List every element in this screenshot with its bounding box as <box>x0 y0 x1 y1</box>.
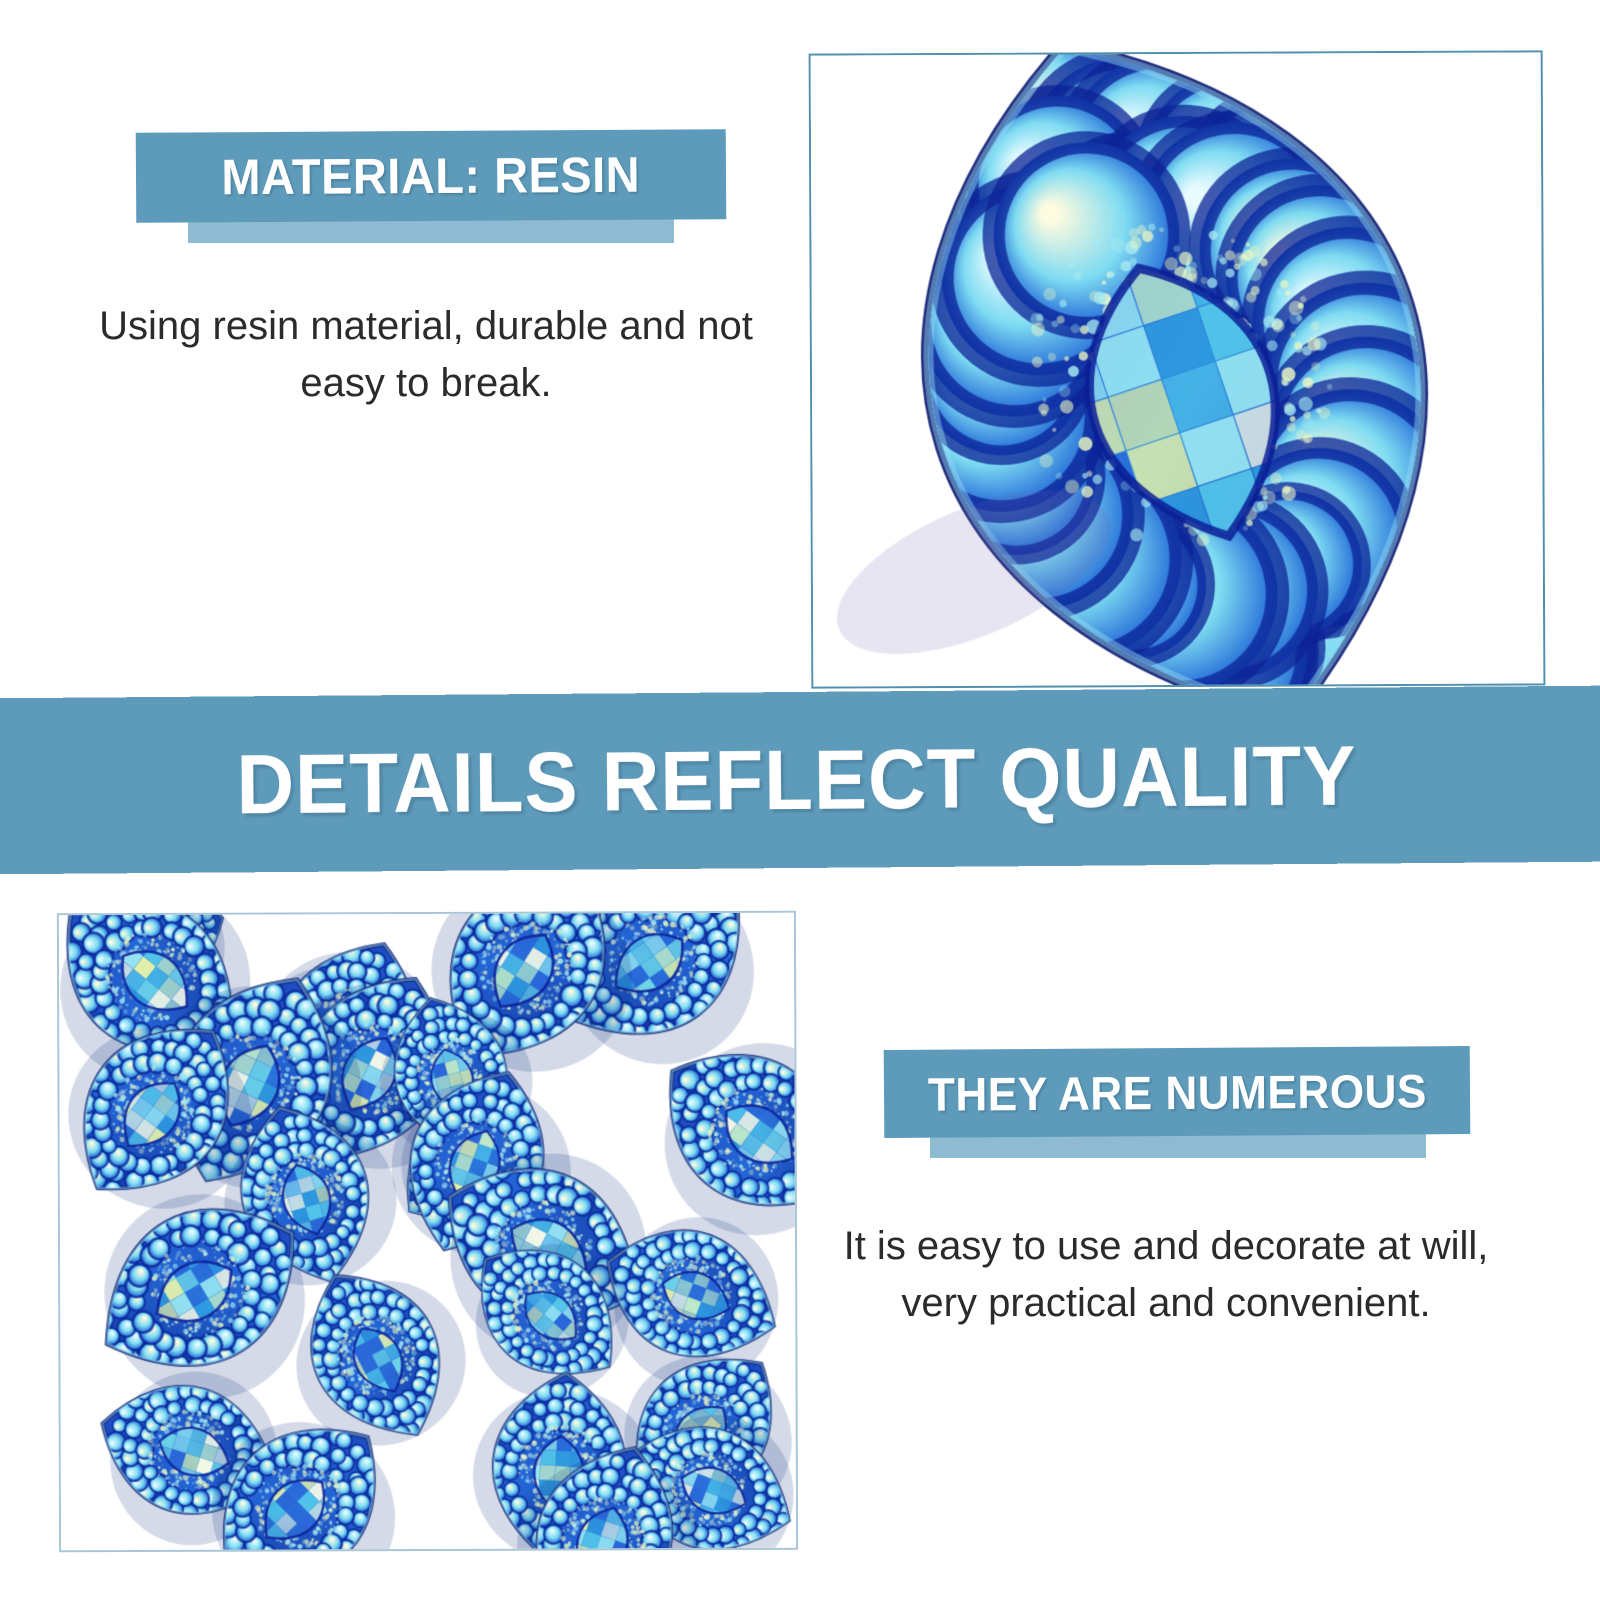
body-text-numerous: It is easy to use and decorate at will, … <box>836 1218 1496 1332</box>
ribbon-heading-material: MATERIAL: RESIN <box>136 131 736 247</box>
photo-rhinestone-pile <box>57 911 798 1553</box>
banner-title-label: DETAILS REFLECT QUALITY <box>236 727 1357 833</box>
photo-single-rhinestone <box>809 50 1546 688</box>
heading-material-label: MATERIAL: RESIN <box>221 146 640 207</box>
photo-single-rhinestone-image <box>811 52 1544 686</box>
ribbon-main-bar: MATERIAL: RESIN <box>136 129 727 223</box>
ribbon-main-bar: THEY ARE NUMEROUS <box>884 1046 1471 1138</box>
ribbon-heading-numerous: THEY ARE NUMEROUS <box>884 1048 1484 1164</box>
banner-details-reflect-quality: DETAILS REFLECT QUALITY <box>0 686 1600 875</box>
infographic-page: MATERIAL: RESIN Using resin material, du… <box>0 0 1600 1600</box>
photo-rhinestone-pile-image <box>59 913 796 1551</box>
heading-numerous-label: THEY ARE NUMEROUS <box>927 1063 1426 1121</box>
body-text-material: Using resin material, durable and not ea… <box>96 298 756 412</box>
